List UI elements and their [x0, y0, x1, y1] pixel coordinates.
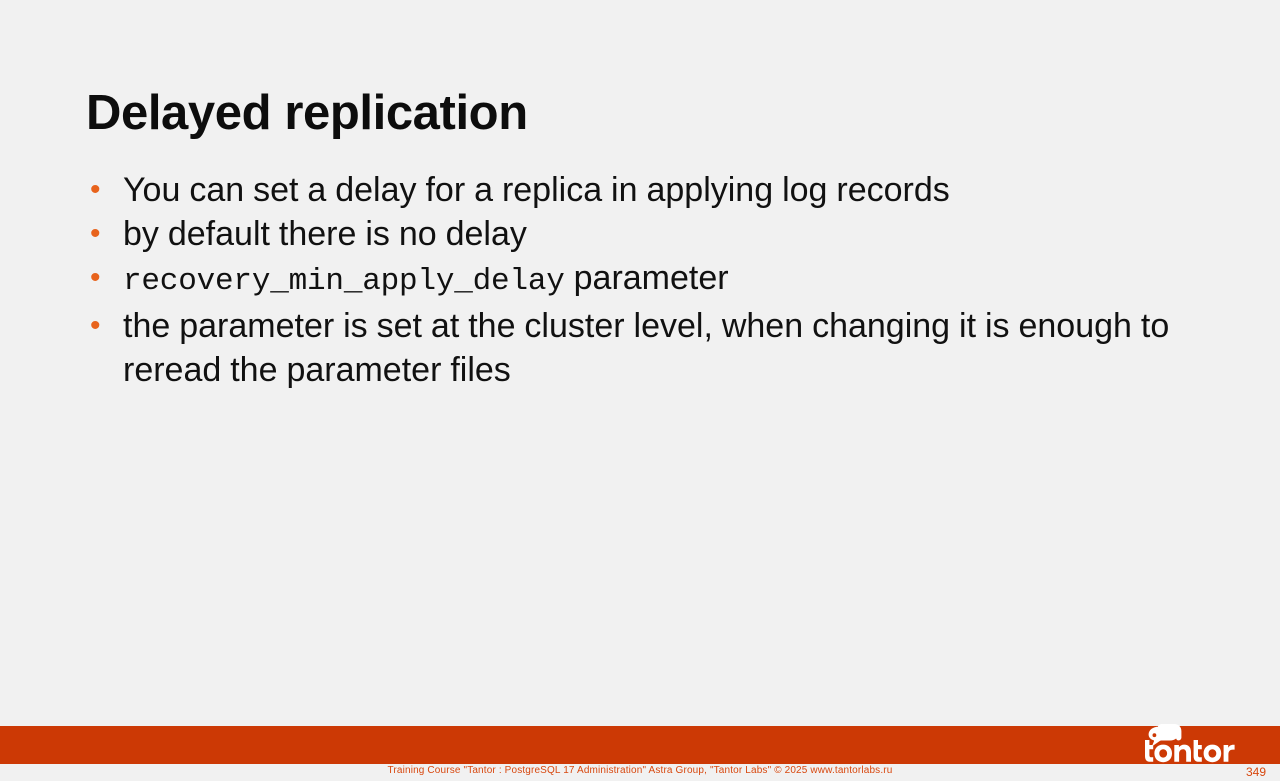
bullet-dot-icon: •	[86, 256, 123, 300]
page-title: Delayed replication	[86, 85, 528, 141]
list-item-label: You can set a delay for a replica in app…	[123, 168, 1186, 212]
list-item-parameter: • recovery_min_apply_delay parameter	[86, 256, 1186, 304]
parameter-name-code: recovery_min_apply_delay	[123, 264, 565, 299]
bullet-dot-icon: •	[86, 304, 123, 348]
list-item-label: recovery_min_apply_delay parameter	[123, 256, 1186, 304]
list-item: • You can set a delay for a replica in a…	[86, 168, 1186, 212]
slide: Delayed replication • You can set a dela…	[0, 0, 1280, 781]
bullet-dot-icon: •	[86, 212, 123, 256]
list-item: • the parameter is set at the cluster le…	[86, 304, 1186, 392]
bullet-list: • You can set a delay for a replica in a…	[86, 168, 1186, 392]
list-item-label: the parameter is set at the cluster leve…	[123, 304, 1186, 392]
parameter-label-suffix: parameter	[565, 259, 729, 297]
page-number: 349	[1246, 765, 1266, 779]
footer-copyright-text: Training Course "Tantor : PostgreSQL 17 …	[0, 765, 1280, 776]
footer-bar	[0, 726, 1280, 764]
bullet-dot-icon: •	[86, 168, 123, 212]
list-item: • by default there is no delay	[86, 212, 1186, 256]
list-item-label: by default there is no delay	[123, 212, 1186, 256]
